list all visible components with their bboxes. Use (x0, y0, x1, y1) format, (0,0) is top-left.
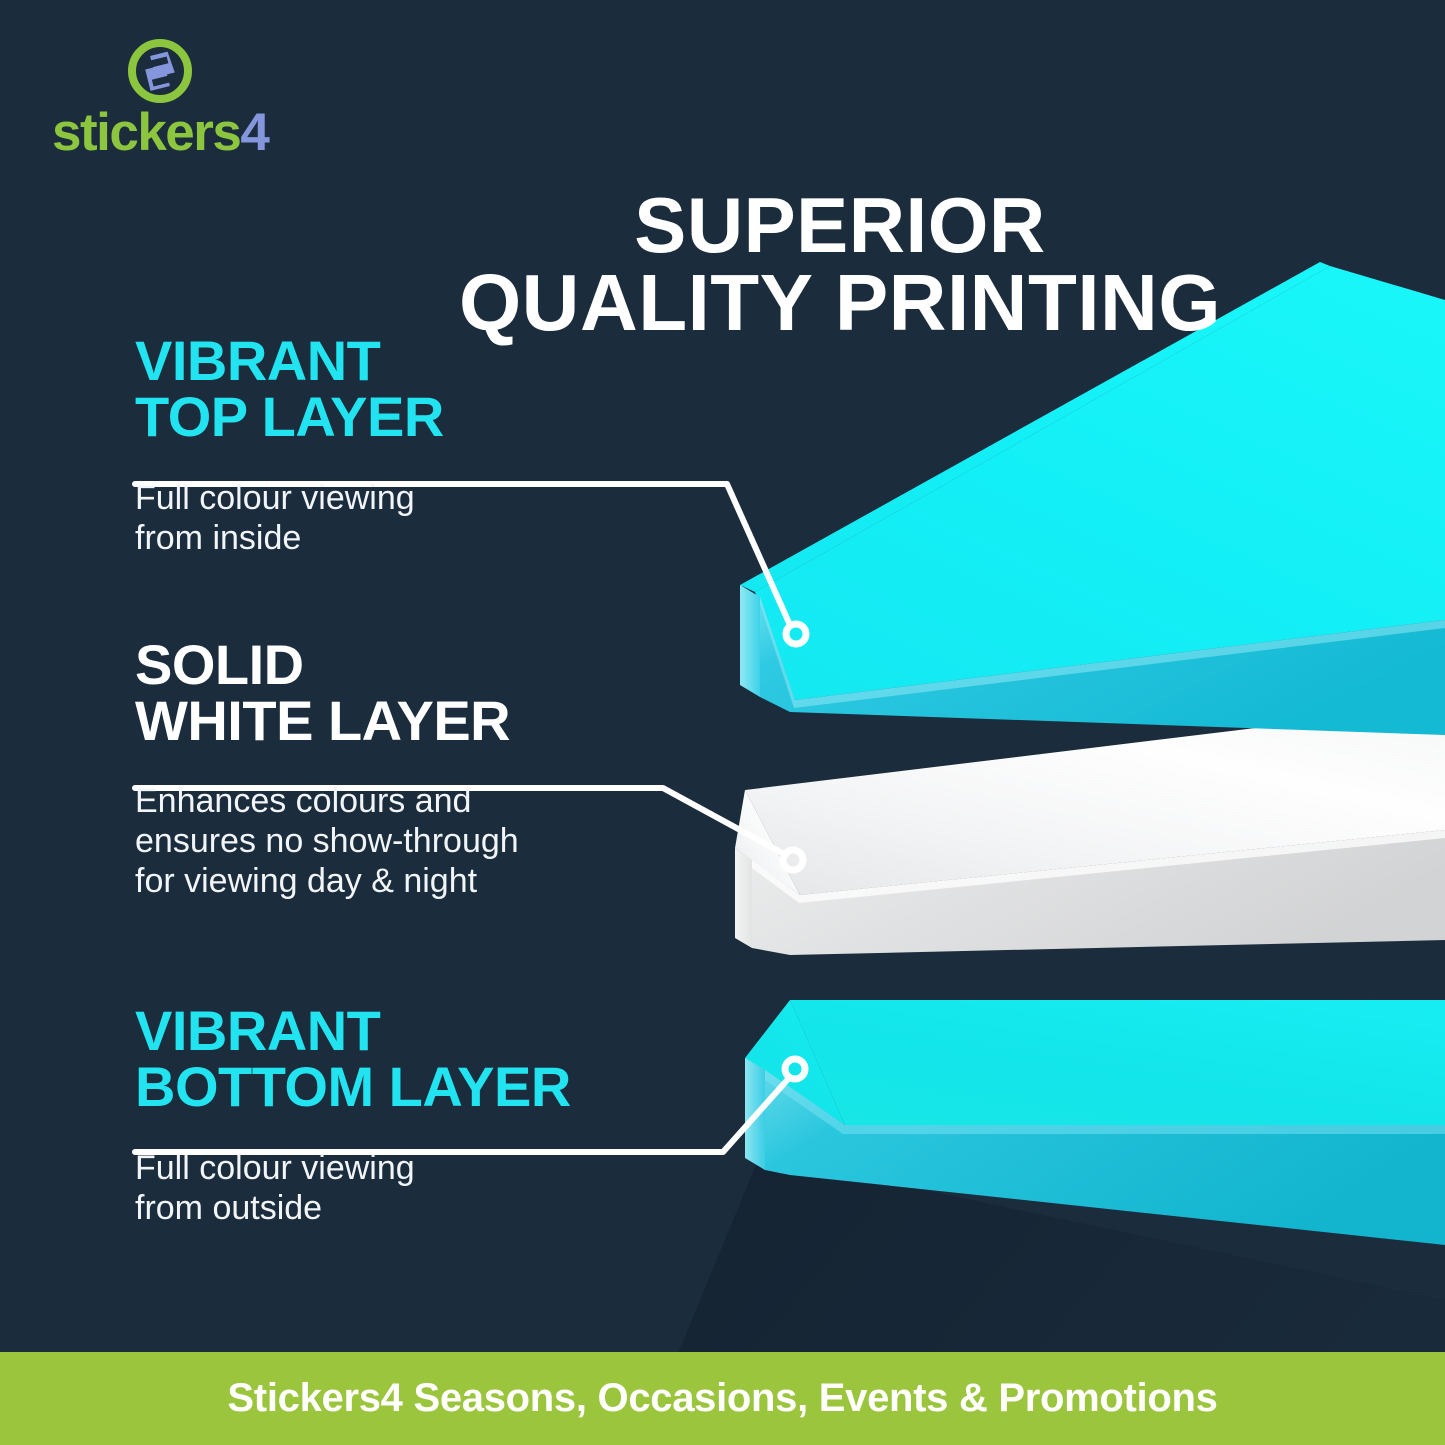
white-layer-slab (735, 705, 1445, 955)
feature-body-line-1: Enhances colours and (135, 781, 755, 821)
page-title: SUPERIOR QUALITY PRINTING (300, 187, 1380, 342)
title-line-1: SUPERIOR (300, 187, 1380, 263)
feature-body-white-layer: Enhances colours and ensures no show-thr… (135, 781, 755, 901)
feature-body-line-2: from inside (135, 518, 755, 558)
feature-body-line-2: from outside (135, 1188, 755, 1228)
feature-heading-line-1: VIBRANT (135, 1003, 755, 1059)
feature-heading-white-layer: SOLID WHITE LAYER (135, 637, 755, 749)
feature-block-top-layer: VIBRANT TOP LAYER Full colour viewing fr… (135, 333, 755, 558)
feature-heading-bottom-layer: VIBRANT BOTTOM LAYER (135, 1003, 755, 1115)
feature-block-bottom-layer: VIBRANT BOTTOM LAYER Full colour viewing… (135, 1003, 755, 1228)
footer-banner: Stickers4 Seasons, Occasions, Events & P… (0, 1352, 1445, 1445)
logo-wordmark: stickers4 (52, 106, 302, 159)
brand-logo[interactable]: stickers4 (52, 38, 302, 159)
feature-heading-line-1: SOLID (135, 637, 755, 693)
title-line-2: QUALITY PRINTING (300, 264, 1380, 342)
infographic-page: stickers4 SUPERIOR QUALITY PRINTING VIBR… (0, 0, 1445, 1445)
feature-body-top-layer: Full colour viewing from inside (135, 478, 755, 558)
logo-word-green: stickers (52, 103, 240, 162)
footer-banner-text: Stickers4 Seasons, Occasions, Events & P… (227, 1376, 1217, 1421)
feature-heading-line-2: WHITE LAYER (135, 693, 755, 749)
feature-heading-line-2: BOTTOM LAYER (135, 1059, 755, 1115)
logo-word-blue: 4 (240, 103, 268, 162)
feature-body-line-3: for viewing day & night (135, 861, 755, 901)
feature-heading-line-1: VIBRANT (135, 333, 755, 389)
feature-body-line-1: Full colour viewing (135, 1148, 755, 1188)
feature-heading-line-2: TOP LAYER (135, 389, 755, 445)
feature-heading-top-layer: VIBRANT TOP LAYER (135, 333, 755, 445)
feature-body-line-2: ensures no show-through (135, 821, 755, 861)
feature-body-line-1: Full colour viewing (135, 478, 755, 518)
feature-block-white-layer: SOLID WHITE LAYER Enhances colours and e… (135, 637, 755, 901)
stickers4-circle-logo-icon (124, 38, 196, 104)
feature-body-bottom-layer: Full colour viewing from outside (135, 1148, 755, 1228)
